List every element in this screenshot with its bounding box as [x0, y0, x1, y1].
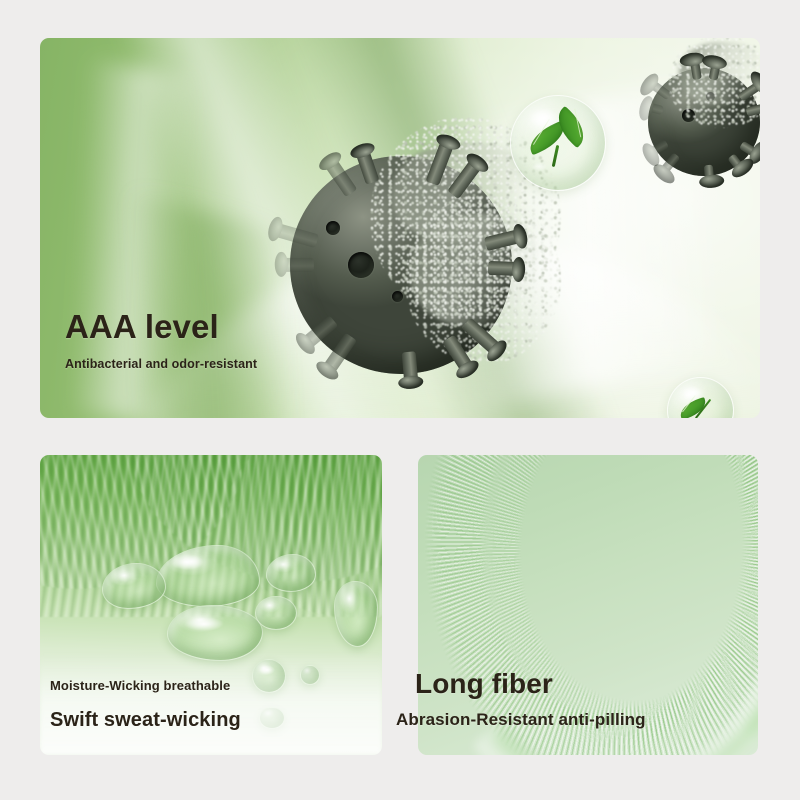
virus-dissolve-wisp [392, 143, 530, 243]
moisture-subtitle: Moisture-Wicking breathable [50, 678, 230, 693]
virus-spike [355, 147, 380, 185]
virus-spike [658, 152, 680, 176]
virus-dissolve-wisp [679, 42, 760, 105]
mint-leaf [550, 106, 593, 148]
water-droplet [334, 581, 378, 647]
virus-dust-cloud [405, 195, 560, 365]
virus-spike [425, 138, 455, 186]
virus-pore [682, 109, 695, 122]
antibacterial-title: AAA level [65, 308, 219, 346]
water-droplet [266, 554, 316, 592]
surface-sheen [40, 653, 382, 755]
virus-model-small-icon [648, 68, 760, 176]
virus-spike [323, 156, 357, 197]
bubble-highlight [682, 386, 704, 400]
virus-spike [272, 222, 319, 248]
mint-bubble-icon [510, 95, 606, 191]
fiber-subtitle: Abrasion-Resistant anti-pilling [396, 710, 646, 730]
virus-spike [442, 335, 475, 375]
virus-spike [703, 165, 713, 183]
virus-spike [689, 57, 701, 80]
antibacterial-subtitle: Antibacterial and odor-resistant [65, 357, 257, 371]
virus-spike [280, 258, 314, 272]
water-droplet [252, 659, 286, 693]
water-droplet [259, 707, 285, 729]
virus-spike [745, 103, 760, 117]
mint-stem [552, 145, 560, 167]
virus-spike [402, 351, 419, 384]
moisture-title: Swift sweat-wicking [50, 709, 241, 732]
water-droplet [255, 596, 297, 630]
brushed-fabric-texture [40, 455, 382, 617]
fiber-title: Long fiber [415, 668, 553, 700]
fabric-fold-shadow [40, 181, 408, 418]
virus-spike [646, 139, 669, 157]
mint-stem [695, 399, 712, 418]
droplet-glare [184, 617, 224, 631]
virus-spike [488, 261, 520, 276]
virus-dust-cloud [370, 117, 561, 318]
virus-dust-cloud [668, 38, 760, 128]
bubble-glass [667, 377, 734, 418]
virus-spike [447, 157, 483, 199]
virus-model-icon [290, 156, 512, 374]
mint-leaf [525, 120, 570, 155]
water-droplet [300, 665, 320, 685]
virus-spike [727, 153, 745, 172]
water-droplet [156, 545, 260, 607]
bubble-highlight [529, 108, 559, 128]
feature-collage: AAA level Antibacterial and odor-resista… [0, 0, 800, 800]
bubble-glass [510, 95, 606, 191]
virus-spike [462, 318, 504, 357]
mint-leaf [677, 397, 708, 418]
brushed-arc [40, 455, 267, 616]
virus-spike [643, 102, 663, 116]
virus-spike [737, 80, 760, 102]
virus-spike [300, 315, 339, 350]
leaf-bubble-icon [667, 377, 734, 418]
droplet-glare [259, 665, 275, 675]
brushed-arc [214, 455, 382, 631]
virus-body [290, 156, 512, 374]
virus-spike [738, 141, 760, 159]
water-droplet [167, 605, 263, 661]
virus-spike [484, 229, 523, 251]
virus-dissolve-wisp [410, 213, 539, 326]
virus-pore [326, 221, 340, 235]
virus-spike [646, 79, 671, 101]
bubble-highlight [531, 162, 547, 171]
brushed-arc [113, 455, 382, 603]
virus-spike [708, 60, 721, 81]
droplet-glare [170, 554, 204, 570]
fabric-fold-sweep [334, 66, 760, 418]
water-droplet [102, 563, 166, 609]
virus-pore [706, 92, 715, 101]
virus-pore [392, 291, 403, 302]
virus-pore [348, 252, 374, 278]
virus-spike [321, 333, 357, 376]
virus-body [648, 68, 760, 176]
